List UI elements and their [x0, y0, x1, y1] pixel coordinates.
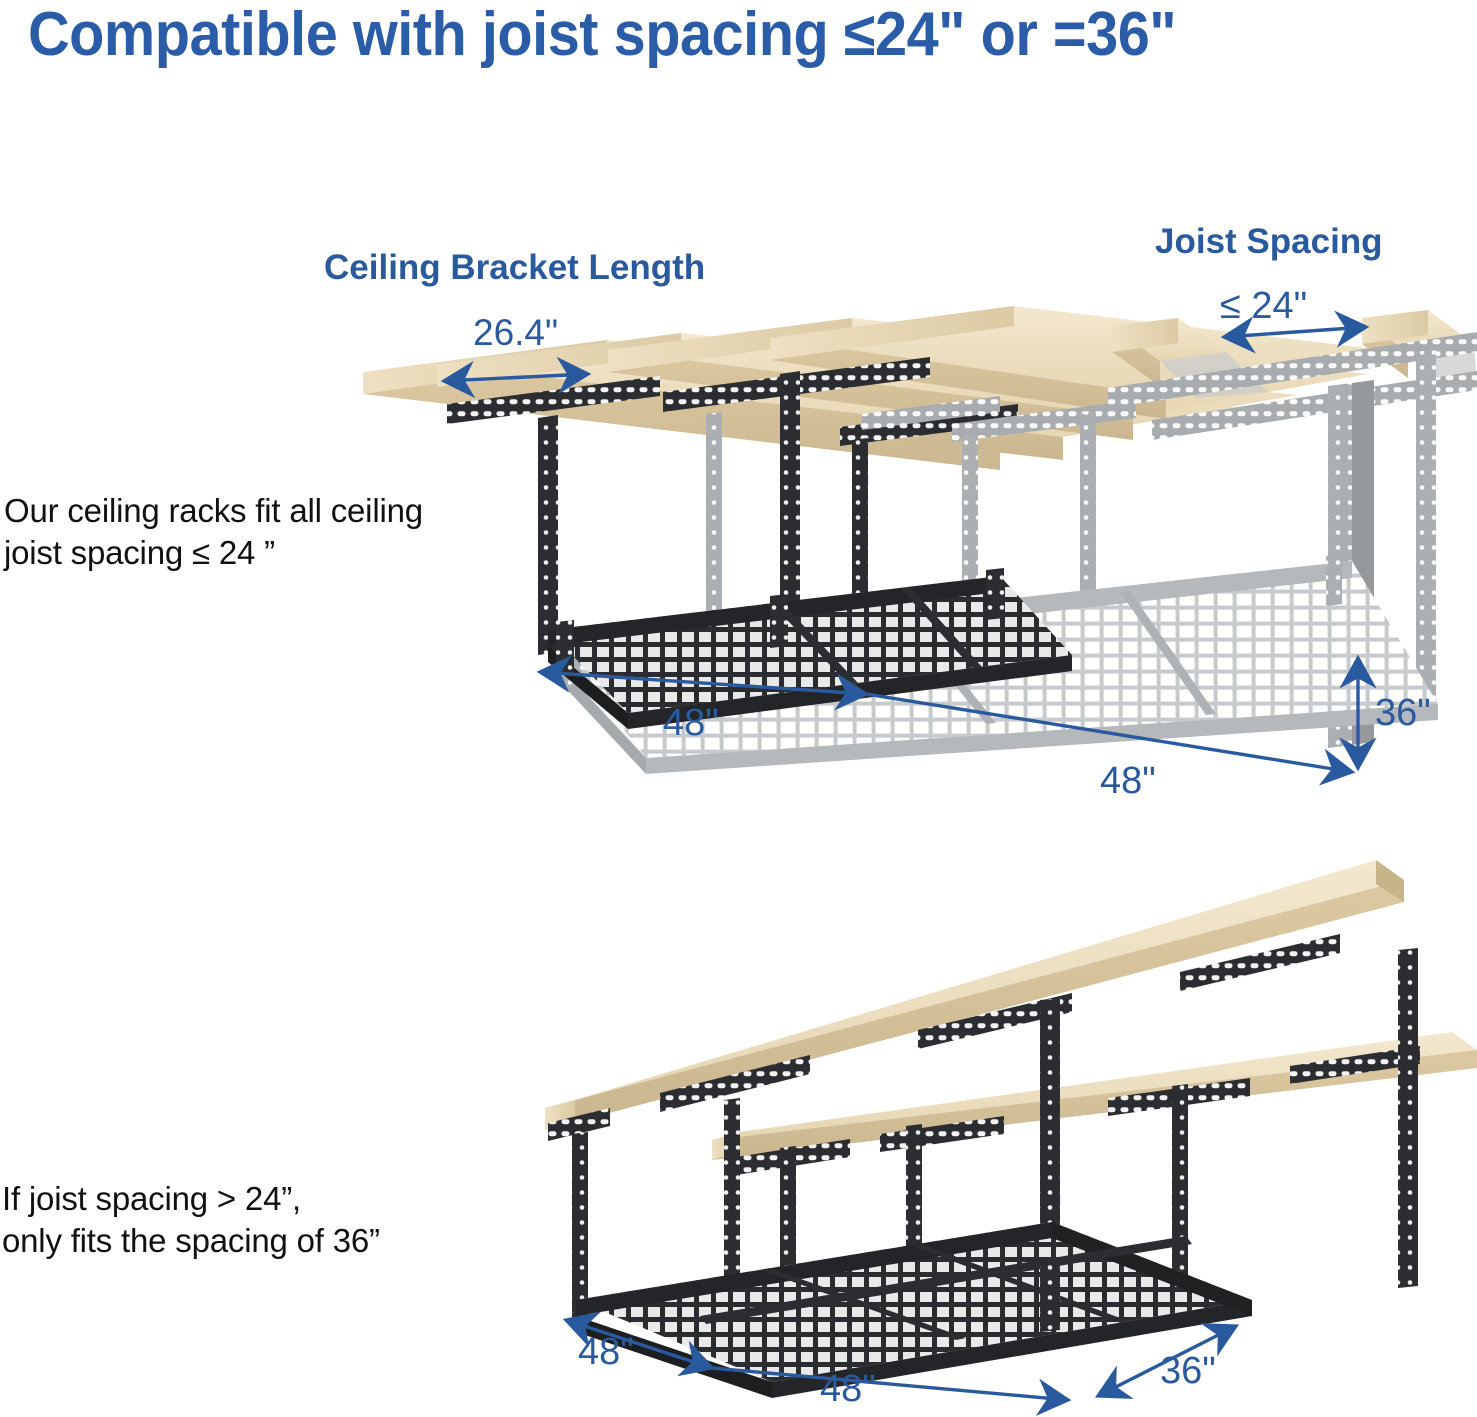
- bottom-ceiling-brackets: [548, 934, 1420, 1175]
- bottom-rack-deck: [576, 1222, 1418, 1398]
- dimension-bottom-width-near: 48": [578, 1331, 634, 1374]
- dimension-bracket-length: 26.4": [473, 312, 558, 354]
- dimension-joist-spacing: ≤ 24": [1220, 285, 1307, 328]
- dimension-bottom-width-far: 48": [820, 1368, 876, 1411]
- dimension-top-depth: 36": [1375, 692, 1431, 735]
- dimension-bottom-depth: 36": [1160, 1350, 1216, 1393]
- dimension-top-width-far: 48": [1100, 760, 1156, 803]
- dimension-arrow-joist-spacing: [1224, 327, 1366, 337]
- infographic-page: Compatible with joist spacing ≤24" or =3…: [0, 0, 1477, 1417]
- dimension-top-width-near: 48": [663, 702, 719, 745]
- label-joist-spacing: Joist Spacing: [1155, 222, 1383, 262]
- caption-bottom: If joist spacing > 24”, only fits the sp…: [2, 1178, 522, 1262]
- label-ceiling-bracket-length: Ceiling Bracket Length: [324, 248, 705, 288]
- caption-top: Our ceiling racks fit all ceiling joist …: [4, 490, 524, 574]
